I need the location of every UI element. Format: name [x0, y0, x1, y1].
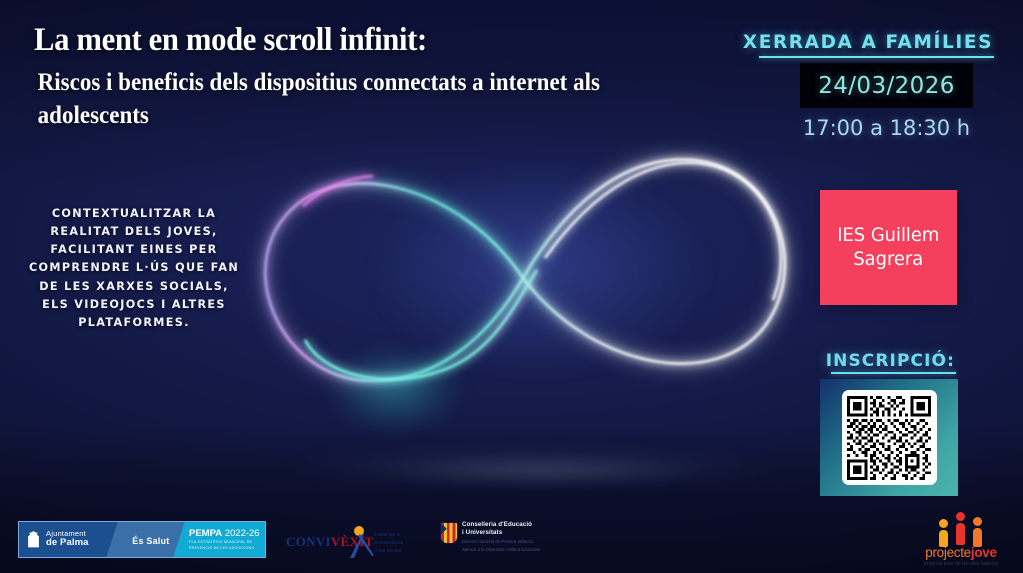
- logo-projecte-jove: projectejove projecte jove de les illes …: [917, 511, 1005, 567]
- audience-label-underline: [759, 56, 994, 58]
- es-salut-label: És Salut: [132, 536, 169, 546]
- conselleria-line-1: Conselleria d'Educació: [462, 521, 540, 529]
- projecte-jove-sub: projecte jove de les illes balears: [917, 561, 1005, 567]
- pempa-sub-1: PLA ESTRATÈGIC MUNICIPAL DE: [189, 540, 266, 545]
- venue-line-2: Sagrera: [837, 248, 939, 271]
- conselleria-line-2: i Universitats: [462, 529, 540, 537]
- convivexit-sub-3: i l'èxit escolar: [374, 547, 432, 555]
- qr-code-frame[interactable]: [820, 379, 958, 496]
- poster-canvas: La ment en mode scroll infinit: Riscos i…: [0, 0, 1023, 573]
- event-time: 17:00 a 18:30 h: [800, 116, 973, 140]
- conselleria-sub-2: Atenció a la Diversitat i Millora Educat…: [462, 547, 540, 553]
- pempa-sub-2: PREVENCIÓ DE LES ADDICCIONS: [189, 546, 266, 551]
- projecte-jove-word-b: jove: [971, 545, 997, 560]
- palma-crest-icon: [26, 531, 41, 548]
- convivexit-word-a: CONVI: [286, 534, 331, 549]
- logo-pempa: PEMPA 2022-26 PLA ESTRATÈGIC MUNICIPAL D…: [173, 522, 266, 557]
- conselleria-sub-1: Direcció General de Primera Infància,: [462, 539, 540, 545]
- logo-convivexit: CONVIVÈXIT Institut per a la convivència…: [286, 523, 426, 559]
- page-subtitle: Riscos i beneficis dels dispositius conn…: [34, 66, 669, 132]
- event-date: 24/03/2026: [818, 73, 955, 99]
- qr-code-svg: [847, 396, 931, 480]
- logo-ajuntament-palma-pempa: Ajuntament de Palma És Salut PEMPA 2022-…: [18, 521, 266, 558]
- page-title: La ment en mode scroll infinit:: [34, 22, 676, 59]
- qr-code-icon[interactable]: [842, 390, 937, 485]
- convivexit-sub-1: Institut per a: [374, 531, 432, 539]
- convivexit-sub-2: la convivència: [374, 539, 432, 547]
- event-date-badge: 24/03/2026: [800, 63, 973, 108]
- signup-label-underline: [831, 372, 956, 374]
- footer-logo-bar: Ajuntament de Palma És Salut PEMPA 2022-…: [0, 505, 1023, 573]
- person-figure-icon: [348, 525, 374, 558]
- title-block: La ment en mode scroll infinit: Riscos i…: [34, 22, 724, 132]
- projecte-jove-word-a: projecte: [925, 545, 971, 560]
- palma-line-2: de Palma: [46, 538, 89, 548]
- pempa-name: PEMPA: [189, 528, 222, 539]
- logo-conselleria-educacio: Conselleria d'Educació i Universitats Di…: [440, 521, 600, 557]
- venue-badge: IES Guillem Sagrera: [820, 190, 957, 305]
- description-text: CONTEXTUALITZAR LA REALITAT DELS JOVES, …: [26, 205, 242, 332]
- signup-label: INSCRIPCIÓ:: [826, 351, 955, 371]
- audience-label: XERRADA A FAMÍLIES: [743, 32, 993, 53]
- venue-line-1: IES Guillem: [837, 224, 939, 247]
- pempa-years: 2022-26: [225, 528, 260, 539]
- balearic-shield-icon: [440, 522, 458, 544]
- three-people-icon: [917, 511, 1005, 543]
